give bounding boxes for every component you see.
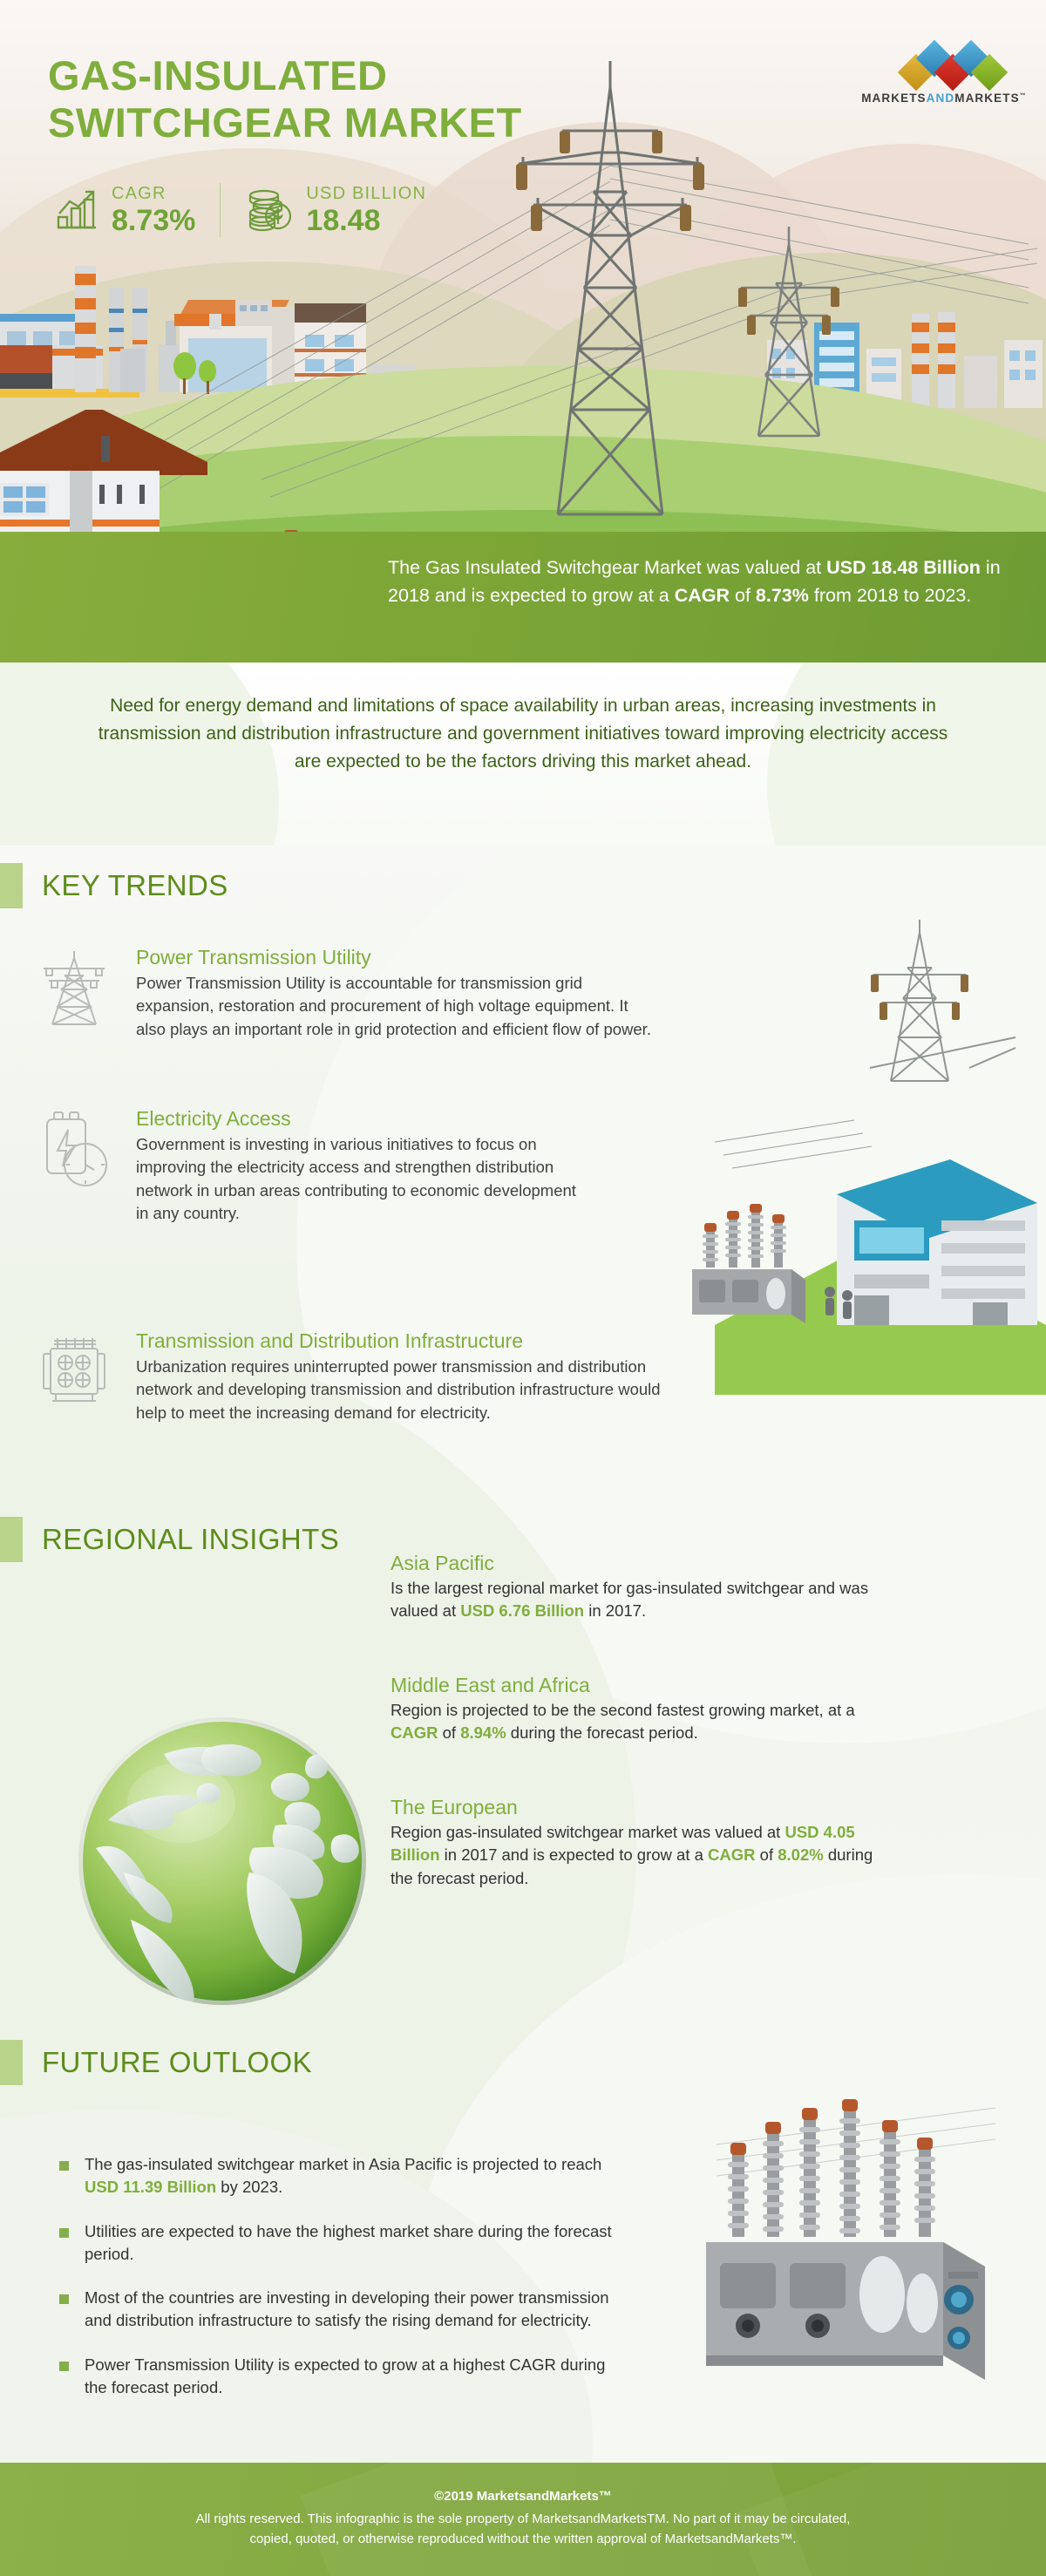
region-asia-pacific: Asia Pacific Is the largest regional mar… bbox=[391, 1552, 879, 1623]
highlighted-value: 8.02% bbox=[778, 1845, 823, 1864]
section-accent-bar bbox=[0, 1517, 23, 1562]
banner-bold-b: CAGR bbox=[675, 585, 730, 606]
banner-bold-a: USD 18.48 Billion bbox=[826, 557, 981, 578]
bullet-marker bbox=[59, 2294, 69, 2304]
outlook-text: Power Transmission Utility is expected t… bbox=[85, 2354, 617, 2400]
banner-bold-c: 8.73% bbox=[756, 585, 809, 606]
region-body: Region gas-insulated switchgear market w… bbox=[391, 1821, 879, 1890]
trend-body: Government is investing in various initi… bbox=[136, 1133, 589, 1225]
logo-word-markets-2: MARKETS bbox=[954, 92, 1019, 105]
bar-chart-growth-icon bbox=[54, 187, 99, 233]
substation-building-illustration bbox=[680, 1107, 1046, 1404]
banner-text-d: from 2018 to 2023. bbox=[809, 585, 971, 606]
section-accent-bar bbox=[0, 863, 23, 908]
stat-usd-billion: USD BILLION 18.48 bbox=[245, 184, 426, 237]
logo-wordmark: MARKETSANDMARKETS™ bbox=[861, 92, 1027, 105]
hero-section: GAS-INSULATED SWITCHGEAR MARKET CAGR 8.7… bbox=[0, 0, 1046, 663]
body-text: during the forecast period. bbox=[506, 1723, 698, 1742]
outlook-text: The gas-insulated switchgear market in A… bbox=[85, 2153, 617, 2199]
trend-item-transmission-distribution-infrastructure: Transmission and Distribution Infrastruc… bbox=[35, 1329, 694, 1424]
logo-word-and: AND bbox=[927, 92, 955, 105]
footer-copyright: ©2019 MarketsandMarkets™ bbox=[0, 2463, 1046, 2504]
trend-title: Power Transmission Utility bbox=[136, 946, 659, 969]
intro-section: Need for energy demand and limitations o… bbox=[0, 663, 1046, 846]
trend-title: Transmission and Distribution Infrastruc… bbox=[136, 1329, 694, 1353]
content-sections: KEY TRENDS bbox=[0, 846, 1046, 2463]
body-text: in 2017. bbox=[584, 1601, 646, 1620]
trend-item-electricity-access: Electricity Access Government is investi… bbox=[35, 1107, 589, 1225]
bullet-marker bbox=[59, 2362, 69, 2371]
body-text: Power Transmission Utility is expected t… bbox=[85, 2355, 605, 2396]
transmission-tower-icon bbox=[35, 946, 113, 1030]
region-body: Region is projected to be the second fas… bbox=[391, 1699, 879, 1745]
hero-stats: CAGR 8.73% bbox=[54, 183, 426, 237]
marketsandmarkets-logo[interactable]: MARKETSANDMARKETS™ bbox=[861, 45, 1027, 105]
trend-body: Power Transmission Utility is accountabl… bbox=[136, 972, 659, 1041]
logo-trademark: ™ bbox=[1020, 93, 1027, 99]
future-outlook-header: FUTURE OUTLOOK bbox=[0, 2040, 312, 2085]
coin-stack-dollar-icon bbox=[245, 187, 294, 233]
title-line-2: SWITCHGEAR MARKET bbox=[48, 99, 522, 146]
banner-text-c: of bbox=[730, 585, 756, 606]
region-title: Middle East and Africa bbox=[391, 1674, 879, 1697]
hero-summary-text: The Gas Insulated Switchgear Market was … bbox=[388, 554, 1024, 610]
body-text: Most of the countries are investing in d… bbox=[85, 2288, 609, 2329]
region-title: The European bbox=[391, 1796, 879, 1819]
banner-text-a: The Gas Insulated Switchgear Market was … bbox=[388, 557, 826, 578]
transformer-icon bbox=[35, 1329, 113, 1413]
body-text: Utilities are expected to have the highe… bbox=[85, 2222, 612, 2263]
stat-cagr: CAGR 8.73% bbox=[54, 184, 195, 237]
body-text: in 2017 and is expected to grow at a bbox=[440, 1845, 709, 1864]
future-outlook-heading: FUTURE OUTLOOK bbox=[42, 2046, 312, 2079]
highlighted-value: CAGR bbox=[708, 1845, 755, 1864]
future-outlook-list: The gas-insulated switchgear market in A… bbox=[59, 2153, 617, 2420]
footer-rights-line-2: copied, quoted, or otherwise reproduced … bbox=[250, 2532, 797, 2546]
trend-body: Urbanization requires uninterrupted powe… bbox=[136, 1356, 694, 1424]
outlook-bullet-item: Most of the countries are investing in d… bbox=[59, 2287, 617, 2333]
bullet-marker bbox=[59, 2228, 69, 2238]
body-text: Region is projected to be the second fas… bbox=[391, 1701, 855, 1719]
body-text: by 2023. bbox=[216, 2178, 282, 2196]
regional-insights-heading: REGIONAL INSIGHTS bbox=[42, 1523, 339, 1556]
stat-label: CAGR bbox=[112, 184, 195, 204]
globe-icon bbox=[78, 1717, 366, 2005]
section-accent-bar bbox=[0, 2040, 23, 2085]
battery-meter-icon bbox=[35, 1107, 113, 1191]
outlook-bullet-item: Utilities are expected to have the highe… bbox=[59, 2220, 617, 2267]
body-text: of bbox=[756, 1845, 778, 1864]
highlighted-value: CAGR bbox=[391, 1723, 438, 1742]
body-text: Region gas-insulated switchgear market w… bbox=[391, 1823, 784, 1841]
transmission-tower-decoration bbox=[819, 915, 1020, 1090]
region-body: Is the largest regional market for gas-i… bbox=[391, 1577, 879, 1623]
outlook-text: Most of the countries are investing in d… bbox=[85, 2287, 617, 2333]
page-title: GAS-INSULATED SWITCHGEAR MARKET bbox=[48, 52, 522, 146]
highlighted-value: 8.94% bbox=[460, 1723, 506, 1742]
body-text: The gas-insulated switchgear market in A… bbox=[85, 2155, 601, 2173]
region-middle-east-africa: Middle East and Africa Region is project… bbox=[391, 1674, 879, 1745]
key-trends-header: KEY TRENDS bbox=[0, 863, 228, 908]
intro-paragraph: Need for energy demand and limitations o… bbox=[87, 692, 959, 776]
footer-rights: All rights reserved. This infographic is… bbox=[0, 2510, 1046, 2549]
outlook-bullet-item: Power Transmission Utility is expected t… bbox=[59, 2354, 617, 2400]
stat-value: 18.48 bbox=[306, 206, 426, 237]
region-european: The European Region gas-insulated switch… bbox=[391, 1796, 879, 1890]
trend-item-power-transmission-utility: Power Transmission Utility Power Transmi… bbox=[35, 946, 659, 1041]
title-line-1: GAS-INSULATED bbox=[48, 52, 387, 99]
region-title: Asia Pacific bbox=[391, 1552, 879, 1575]
footer-rights-line-1: All rights reserved. This infographic is… bbox=[196, 2511, 851, 2526]
footer: ©2019 MarketsandMarkets™ All rights rese… bbox=[0, 2463, 1046, 2576]
body-text: of bbox=[438, 1723, 460, 1742]
highlighted-value: USD 11.39 Billion bbox=[85, 2178, 216, 2196]
logo-word-markets-1: MARKETS bbox=[861, 92, 926, 105]
stat-label: USD BILLION bbox=[306, 184, 426, 204]
stat-value: 8.73% bbox=[112, 206, 195, 237]
hero-summary-banner: The Gas Insulated Switchgear Market was … bbox=[0, 532, 1046, 663]
outlook-text: Utilities are expected to have the highe… bbox=[85, 2220, 617, 2267]
outlook-bullet-item: The gas-insulated switchgear market in A… bbox=[59, 2153, 617, 2199]
highlighted-value: USD 6.76 Billion bbox=[460, 1601, 584, 1620]
stat-divider bbox=[220, 183, 221, 237]
logo-diamonds bbox=[861, 45, 1027, 87]
bullet-marker bbox=[59, 2161, 69, 2171]
regional-insights-header: REGIONAL INSIGHTS bbox=[0, 1517, 339, 1562]
key-trends-heading: KEY TRENDS bbox=[42, 869, 228, 902]
gas-insulated-switchgear-unit-icon bbox=[682, 2092, 1013, 2406]
trend-title: Electricity Access bbox=[136, 1107, 589, 1131]
